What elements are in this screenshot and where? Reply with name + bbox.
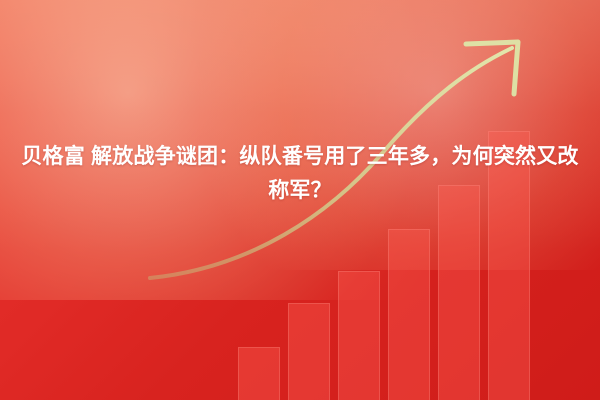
chart-bar: [288, 303, 330, 400]
chart-bar: [438, 185, 480, 400]
promo-banner: 贝格富 解放战争谜团：纵队番号用了三年多，为何突然又改称军？: [0, 0, 600, 400]
chart-bar: [388, 229, 430, 400]
chart-bar: [338, 271, 380, 400]
light-wash-right: [200, 0, 600, 270]
source-label: 贝格富: [21, 145, 85, 168]
light-wash-top: [0, 0, 600, 250]
headline-text: 解放战争谜团：纵队番号用了三年多，为何突然又改称军？: [91, 145, 579, 202]
banner-headline: 贝格富 解放战争谜团：纵队番号用了三年多，为何突然又改称军？: [18, 140, 582, 208]
chart-bar: [238, 347, 280, 400]
